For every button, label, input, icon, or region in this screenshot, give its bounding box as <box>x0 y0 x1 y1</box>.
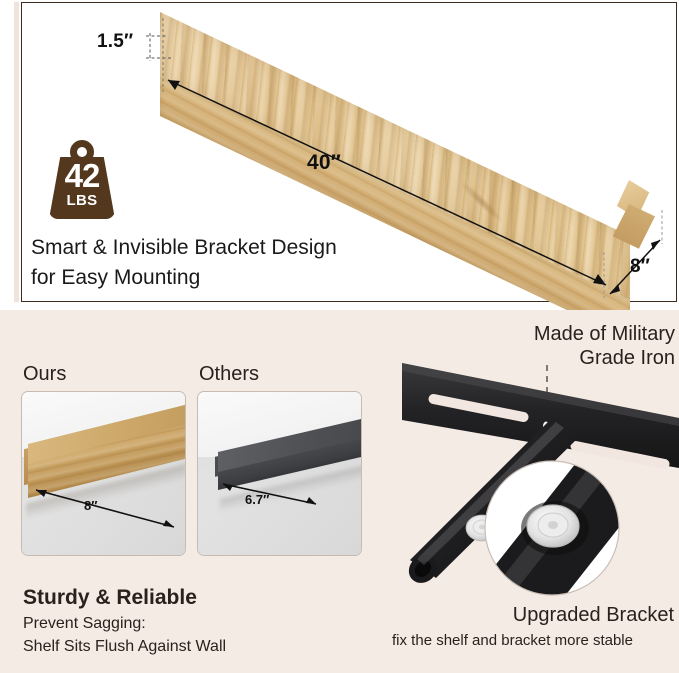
comparison-card-ours <box>21 391 186 556</box>
weight-unit: LBS <box>46 193 118 208</box>
comparison-subtext: Prevent Sagging: Shelf Sits Flush Agains… <box>23 613 226 658</box>
ours-dimension-arrow <box>22 392 186 556</box>
upgraded-bracket-heading: Upgraded Bracket <box>380 604 674 627</box>
top-panel: 1.5″ 40″ 8″ 42 LBS Smart & Invisible Bra… <box>0 0 679 310</box>
headline-line-1: Smart & Invisible Bracket Design <box>31 233 451 263</box>
dimension-depth-label: 8″ <box>630 256 650 278</box>
others-dimension-arrow <box>198 392 362 556</box>
comparison-label-others: Others <box>199 363 259 386</box>
others-dimension-label: 6.7″ <box>245 492 269 507</box>
dimension-thickness-label: 1.5″ <box>97 31 133 53</box>
comparison-card-others <box>197 391 362 556</box>
infographic-page: 1.5″ 40″ 8″ 42 LBS Smart & Invisible Bra… <box>0 0 679 673</box>
top-headline: Smart & Invisible Bracket Design for Eas… <box>31 233 451 294</box>
comparison-sub-line-1: Prevent Sagging: <box>23 613 226 636</box>
weight-value: 42 <box>46 159 118 192</box>
dimension-length-label: 40″ <box>307 151 341 175</box>
comparison-sub-line-2: Shelf Sits Flush Against Wall <box>23 636 226 659</box>
weight-capacity-badge: 42 LBS <box>46 140 118 228</box>
comparison-label-ours: Ours <box>23 363 66 386</box>
headline-line-2: for Easy Mounting <box>31 263 451 293</box>
ours-dimension-label: 8″ <box>84 498 97 513</box>
upgraded-bracket-subtext: fix the shelf and bracket more stable <box>350 632 675 649</box>
comparison-heading: Sturdy & Reliable <box>23 586 197 610</box>
